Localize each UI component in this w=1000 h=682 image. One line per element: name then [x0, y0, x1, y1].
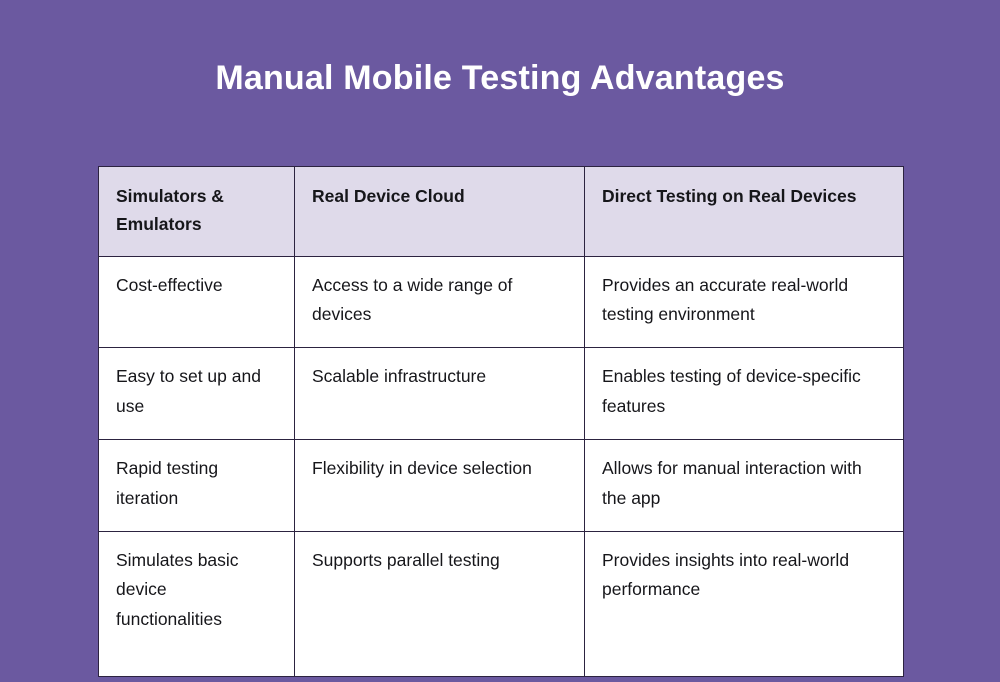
column-header-real-device-cloud: Real Device Cloud: [295, 167, 585, 257]
table-cell: Provides an accurate real-world testing …: [585, 256, 904, 348]
column-header-simulators-emulators: Simulators & Emulators: [99, 167, 295, 257]
table-row: Cost-effective Access to a wide range of…: [99, 256, 904, 348]
table-cell: Easy to set up and use: [99, 348, 295, 440]
table-header-row: Simulators & Emulators Real Device Cloud…: [99, 167, 904, 257]
table-cell: Simulates basic device functionalities: [99, 532, 295, 677]
table-cell: Access to a wide range of devices: [295, 256, 585, 348]
table-cell: Cost-effective: [99, 256, 295, 348]
table-cell: Enables testing of device-specific featu…: [585, 348, 904, 440]
table-cell: Allows for manual interaction with the a…: [585, 440, 904, 532]
table-cell: Rapid testing iteration: [99, 440, 295, 532]
table-cell: Provides insights into real-world perfor…: [585, 532, 904, 677]
table-row: Simulates basic device functionalities S…: [99, 532, 904, 677]
column-header-direct-testing-on-real-devices: Direct Testing on Real Devices: [585, 167, 904, 257]
table-body: Cost-effective Access to a wide range of…: [99, 256, 904, 677]
table-cell: Flexibility in device selection: [295, 440, 585, 532]
table-header: Simulators & Emulators Real Device Cloud…: [99, 167, 904, 257]
comparison-table-container: Simulators & Emulators Real Device Cloud…: [98, 166, 903, 677]
table-cell: Scalable infrastructure: [295, 348, 585, 440]
table-row: Easy to set up and use Scalable infrastr…: [99, 348, 904, 440]
page-title: Manual Mobile Testing Advantages: [0, 58, 1000, 99]
table-row: Rapid testing iteration Flexibility in d…: [99, 440, 904, 532]
comparison-table: Simulators & Emulators Real Device Cloud…: [98, 166, 904, 677]
table-cell: Supports parallel testing: [295, 532, 585, 677]
slide-canvas: Manual Mobile Testing Advantages Simulat…: [0, 0, 1000, 682]
